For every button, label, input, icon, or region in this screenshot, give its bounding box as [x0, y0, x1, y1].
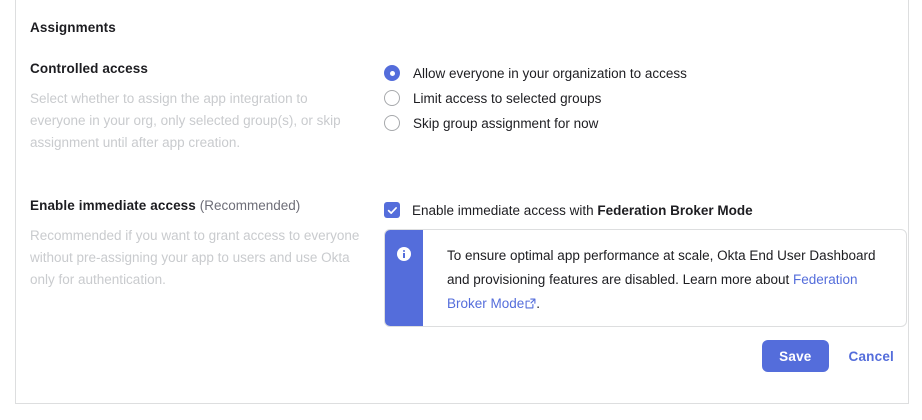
- callout-accent-bar: [385, 230, 423, 326]
- radio-option-allow-everyone[interactable]: Allow everyone in your organization to a…: [384, 61, 687, 85]
- controlled-access-row: Controlled access Select whether to assi…: [16, 61, 910, 181]
- immediate-access-label: Enable immediate access (Recommended): [30, 198, 376, 213]
- radio-option-skip-assignment[interactable]: Skip group assignment for now: [384, 111, 687, 135]
- radio-indicator-skip-assignment[interactable]: [384, 115, 400, 131]
- controlled-access-label-col: Controlled access Select whether to assi…: [30, 61, 376, 154]
- form-actions: Save Cancel: [762, 340, 894, 372]
- callout-text: To ensure optimal app performance at sca…: [423, 230, 906, 326]
- federation-broker-mode-callout: To ensure optimal app performance at sca…: [384, 229, 907, 327]
- radio-indicator-allow-everyone[interactable]: [384, 65, 400, 81]
- controlled-access-label: Controlled access: [30, 61, 376, 76]
- callout-text-after-link: .: [536, 296, 540, 311]
- immediate-access-field-col: Enable immediate access with Federation …: [384, 200, 753, 220]
- cancel-button[interactable]: Cancel: [849, 349, 894, 364]
- save-button[interactable]: Save: [762, 340, 828, 372]
- radio-label-skip-assignment: Skip group assignment for now: [413, 116, 598, 131]
- page-title: Assignments: [30, 20, 116, 35]
- immediate-access-help-text: Recommended if you want to grant access …: [30, 225, 366, 291]
- checkbox-option-federation-broker-mode[interactable]: Enable immediate access with Federation …: [384, 200, 753, 220]
- info-icon: [397, 247, 411, 261]
- immediate-access-label-text: Enable immediate access: [30, 198, 196, 213]
- assignments-panel: Assignments Controlled access Select whe…: [15, 0, 909, 404]
- controlled-access-help-text: Select whether to assign the app integra…: [30, 88, 366, 154]
- radio-option-limit-access[interactable]: Limit access to selected groups: [384, 86, 687, 110]
- radio-label-allow-everyone: Allow everyone in your organization to a…: [413, 66, 687, 81]
- controlled-access-radio-group: Allow everyone in your organization to a…: [384, 61, 687, 136]
- checkbox-label-federation-broker-mode: Enable immediate access with Federation …: [412, 203, 753, 218]
- checkbox-label-prefix: Enable immediate access with: [412, 203, 597, 218]
- immediate-access-label-col: Enable immediate access (Recommended) Re…: [30, 198, 376, 291]
- checkbox-indicator-federation-broker-mode[interactable]: [384, 202, 400, 218]
- radio-label-limit-access: Limit access to selected groups: [413, 91, 601, 106]
- checkbox-label-strong: Federation Broker Mode: [597, 203, 752, 218]
- immediate-access-label-suffix: (Recommended): [200, 198, 301, 213]
- radio-indicator-limit-access[interactable]: [384, 90, 400, 106]
- external-link-icon: [525, 293, 536, 317]
